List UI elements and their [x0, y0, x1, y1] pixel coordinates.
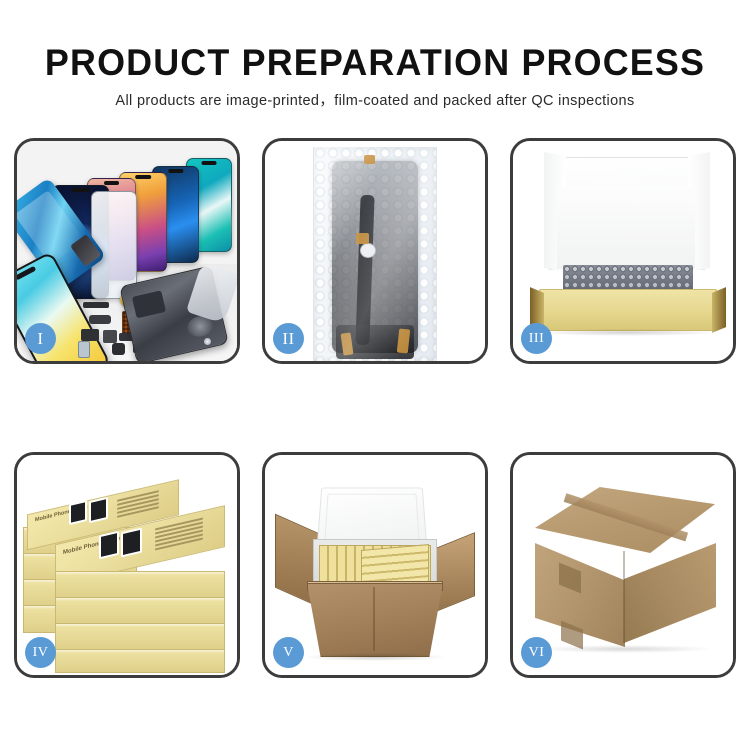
box-window-front: [99, 531, 119, 560]
box-stack: Mobile Phone Spare Parts Mobile Phone Sp…: [21, 473, 237, 669]
step-badge-6: VI: [521, 637, 552, 668]
carton-vertical-edge: [623, 551, 625, 643]
page-title: PRODUCT PREPARATION PROCESS: [11, 0, 739, 83]
foam-inner-face: [557, 187, 695, 269]
screw-part: [204, 338, 211, 345]
step-badge-4: IV: [25, 637, 56, 668]
step-panel-5: V: [262, 452, 488, 678]
step-badge-5: V: [273, 637, 304, 668]
drop-shadow: [537, 329, 717, 336]
step-panel-2: II: [262, 138, 488, 364]
product-preparation-infographic: PRODUCT PREPARATION PROCESS All products…: [0, 0, 750, 750]
box-window-rear: [69, 500, 87, 525]
box-edge: [55, 623, 225, 651]
step-panel-6: VI: [510, 452, 736, 678]
box-edge: [55, 597, 225, 625]
box-edge: [55, 571, 225, 599]
carton-right-face: [624, 543, 716, 643]
flex-cable-part: [83, 302, 109, 308]
header: PRODUCT PREPARATION PROCESS All products…: [0, 0, 750, 110]
process-steps-grid: I II: [14, 138, 736, 678]
step-badge-3: III: [521, 323, 552, 354]
small-part: [81, 329, 99, 341]
step-panel-3: III: [510, 138, 736, 364]
box-window-front: [121, 528, 142, 558]
notch: [71, 188, 90, 192]
plastic-gloss-highlight: [314, 147, 436, 361]
notch: [202, 161, 217, 165]
drop-shadow: [539, 645, 711, 653]
page-subtitle: All products are image-printed，film-coat…: [0, 83, 750, 110]
carton-body: [307, 583, 443, 657]
box-window-rear: [89, 497, 108, 523]
notch: [135, 175, 151, 179]
notch: [168, 169, 183, 173]
small-part: [89, 315, 111, 324]
step-badge-2: II: [273, 323, 304, 354]
box-edge: [55, 649, 225, 673]
drop-shadow: [305, 653, 445, 661]
yellow-inner-box: [539, 289, 717, 331]
step-badge-1: I: [25, 323, 56, 354]
small-part: [112, 343, 125, 355]
step-panel-4: Mobile Phone Spare Parts Mobile Phone Sp…: [14, 452, 240, 678]
sim-tray-part: [78, 341, 90, 358]
step-panel-1: I: [14, 138, 240, 364]
bubble-wrap-bag: [313, 147, 437, 361]
notch: [104, 181, 120, 185]
notch: [17, 266, 36, 281]
carton-crease: [373, 587, 375, 651]
small-part: [103, 330, 117, 343]
